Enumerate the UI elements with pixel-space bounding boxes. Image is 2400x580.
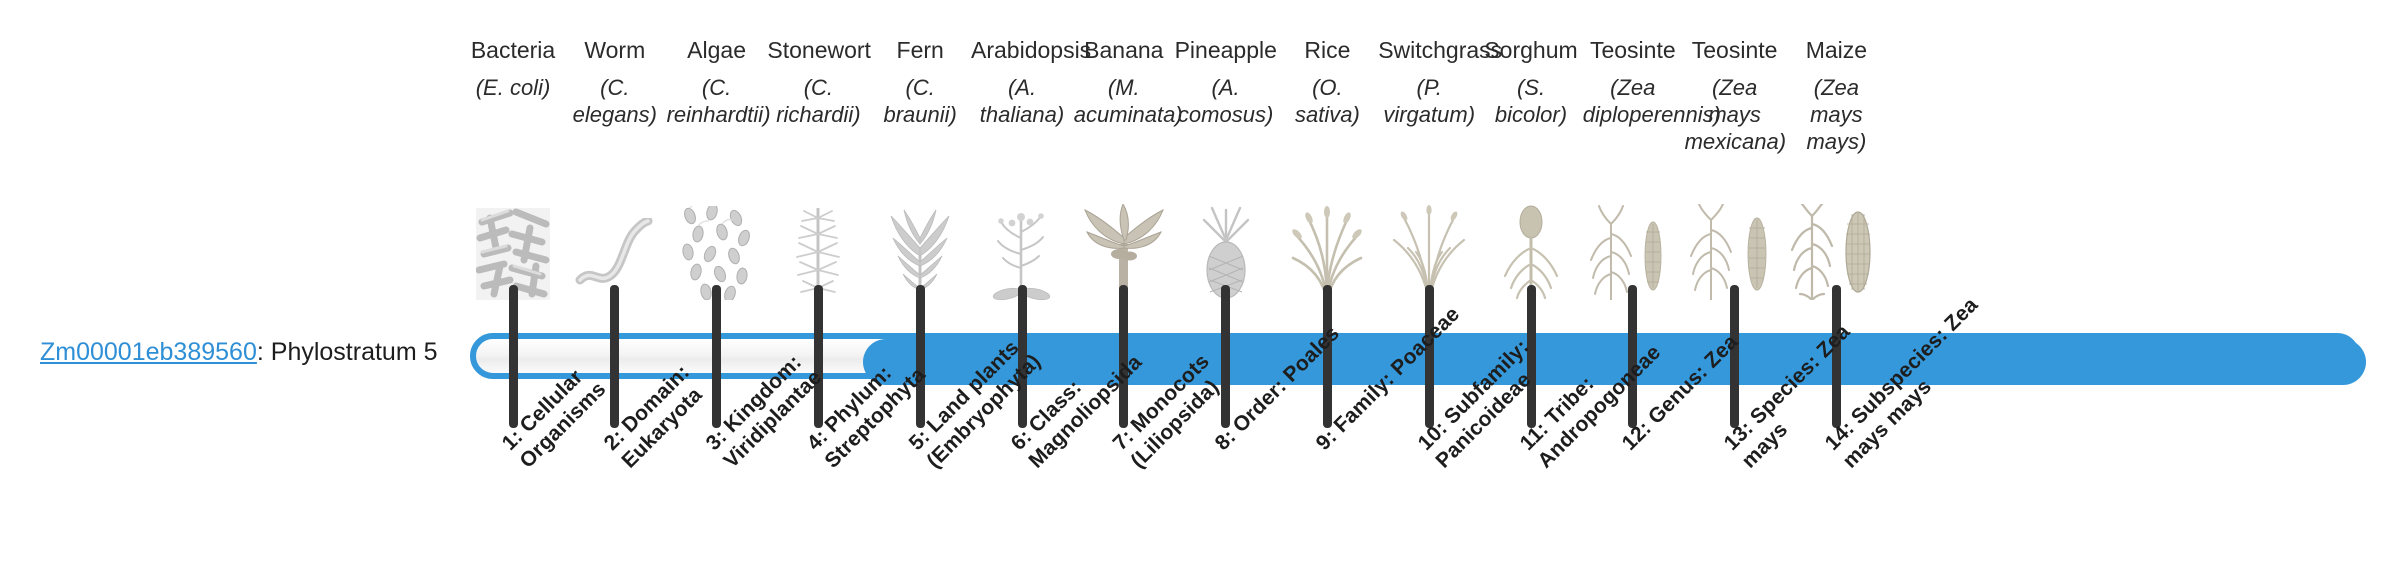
species-common-name: Switchgrass: [1378, 36, 1480, 64]
species-common-name: Worm: [564, 36, 666, 64]
species-column-stonewort: Stonewort(C. richardii): [767, 0, 869, 310]
switchgrass-icon: [1378, 160, 1480, 300]
species-column-sorghum: Sorghum(S. bicolor): [1480, 0, 1582, 310]
maize-icon: [1785, 160, 1887, 300]
species-common-name: Algae: [666, 36, 768, 64]
species-common-name: Rice: [1276, 36, 1378, 64]
species-column-bacteria: Bacteria(E. coli): [462, 0, 564, 310]
algae-icon: [666, 160, 768, 300]
species-column-pineapple: Pineapple(A. comosus): [1175, 0, 1277, 310]
sorghum-icon: [1480, 160, 1582, 300]
stonewort-icon: [767, 160, 869, 300]
gene-id-link[interactable]: Zm00001eb389560: [40, 338, 257, 366]
species-common-name: Teosinte: [1684, 36, 1786, 64]
teosinte-mex-icon: [1684, 160, 1786, 300]
species-common-name: Pineapple: [1175, 36, 1277, 64]
species-common-name: Bacteria: [462, 36, 564, 64]
species-latin-name: (Zea mays mexicana): [1684, 74, 1786, 155]
species-column-banana: Banana(M. acuminata): [1073, 0, 1175, 310]
arabidopsis-icon: [971, 160, 1073, 300]
species-latin-name: (C. richardii): [767, 74, 869, 128]
species-latin-name: (E. coli): [462, 74, 564, 101]
species-column-algae: Algae(C. reinhardtii): [666, 0, 768, 310]
tick-mark-1: [509, 285, 518, 428]
species-header-row: Bacteria(E. coli) Worm(C. elegans) Algae…: [470, 0, 2370, 310]
species-column-fern: Fern(C. braunii): [869, 0, 971, 310]
species-column-arabidopsis: Arabidopsis(A. thaliana): [971, 0, 1073, 310]
gene-phylostratum-label: Zm00001eb389560: Phylostratum 5: [40, 337, 438, 367]
species-common-name: Sorghum: [1480, 36, 1582, 64]
species-common-name: Fern: [869, 36, 971, 64]
label-separator: :: [257, 338, 271, 366]
species-latin-name: (Zea mays mays): [1785, 74, 1887, 155]
teosinte-diplo-icon: [1582, 160, 1684, 300]
species-latin-name: (M. acuminata): [1073, 74, 1175, 128]
species-column-teosinte: Teosinte(Zea mays mexicana): [1684, 0, 1786, 310]
species-latin-name: (A. thaliana): [971, 74, 1073, 128]
banana-icon: [1073, 160, 1175, 300]
species-common-name: Maize: [1785, 36, 1887, 64]
species-common-name: Teosinte: [1582, 36, 1684, 64]
pineapple-icon: [1175, 160, 1277, 300]
phylostratigraphy-track: Bacteria(E. coli) Worm(C. elegans) Algae…: [470, 0, 2370, 580]
species-column-rice: Rice(O. sativa): [1276, 0, 1378, 310]
gene-phylostratum-text: : Phylostratum 5: [257, 338, 438, 366]
phylostratum-value: Phylostratum 5: [271, 338, 438, 366]
species-column-switchgrass: Switchgrass(P. virgatum): [1378, 0, 1480, 310]
species-latin-name: (S. bicolor): [1480, 74, 1582, 128]
species-common-name: Banana: [1073, 36, 1175, 64]
species-column-worm: Worm(C. elegans): [564, 0, 666, 310]
species-latin-name: (Zea diploperennis): [1582, 74, 1684, 128]
rice-icon: [1276, 160, 1378, 300]
species-latin-name: (C. elegans): [564, 74, 666, 128]
bacteria-icon: [462, 160, 564, 300]
species-latin-name: (O. sativa): [1276, 74, 1378, 128]
species-column-maize: Maize(Zea mays mays): [1785, 0, 1887, 310]
species-latin-name: (P. virgatum): [1378, 74, 1480, 128]
worm-icon: [564, 160, 666, 300]
species-column-teosinte: Teosinte(Zea diploperennis): [1582, 0, 1684, 310]
species-latin-name: (C. braunii): [869, 74, 971, 128]
species-common-name: Stonewort: [767, 36, 869, 64]
species-latin-name: (C. reinhardtii): [666, 74, 768, 128]
species-common-name: Arabidopsis: [971, 36, 1073, 64]
fern-icon: [869, 160, 971, 300]
species-latin-name: (A. comosus): [1175, 74, 1277, 128]
